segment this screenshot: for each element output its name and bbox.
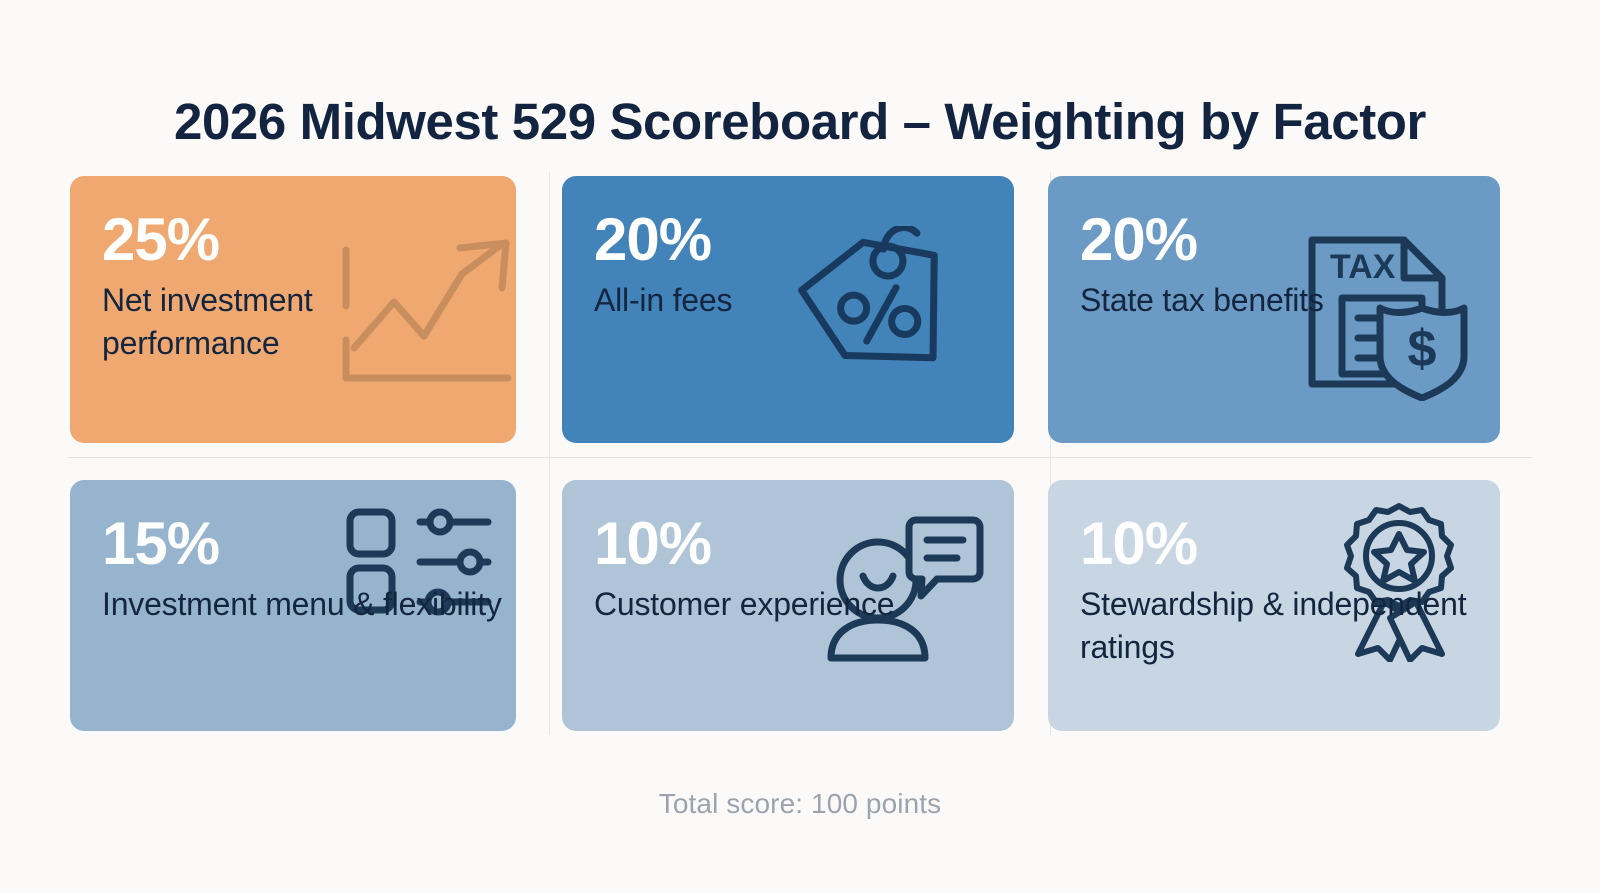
card-label: Net investment performance xyxy=(102,279,432,364)
card-label: State tax benefits xyxy=(1080,279,1410,322)
card-state-tax-benefits[interactable]: 20% State tax benefits TAX $ xyxy=(1048,176,1500,443)
card-percent: 10% xyxy=(594,514,1014,574)
total-score-footer: Total score: 100 points xyxy=(0,788,1600,820)
card-percent: 15% xyxy=(102,514,516,574)
grid-divider-vertical-1 xyxy=(549,172,550,735)
card-percent: 25% xyxy=(102,210,516,270)
card-all-in-fees[interactable]: 20% All-in fees xyxy=(562,176,1014,443)
card-percent: 20% xyxy=(1080,210,1500,270)
card-label: Customer experience xyxy=(594,583,924,626)
infographic-page: 2026 Midwest 529 Scoreboard – Weighting … xyxy=(0,0,1600,893)
card-net-investment-performance[interactable]: 25% Net investment performance xyxy=(70,176,516,443)
weighting-card-grid: 25% Net investment performance 20% All-i… xyxy=(68,172,1532,735)
card-percent: 10% xyxy=(1080,514,1500,574)
card-percent: 20% xyxy=(594,210,1014,270)
card-label: All-in fees xyxy=(594,279,924,322)
card-investment-menu-flexibility[interactable]: 15% Investment menu & flexibility xyxy=(70,480,516,731)
page-title: 2026 Midwest 529 Scoreboard – Weighting … xyxy=(0,92,1600,151)
dollar-sign-icon: $ xyxy=(1408,320,1437,378)
card-label: Investment menu & flexibility xyxy=(102,583,502,626)
card-label: Stewardship & independent ratings xyxy=(1080,583,1480,668)
grid-divider-horizontal xyxy=(68,457,1532,458)
card-customer-experience[interactable]: 10% Customer experience xyxy=(562,480,1014,731)
card-stewardship-independent-ratings[interactable]: 10% Stewardship & independent ratings xyxy=(1048,480,1500,731)
